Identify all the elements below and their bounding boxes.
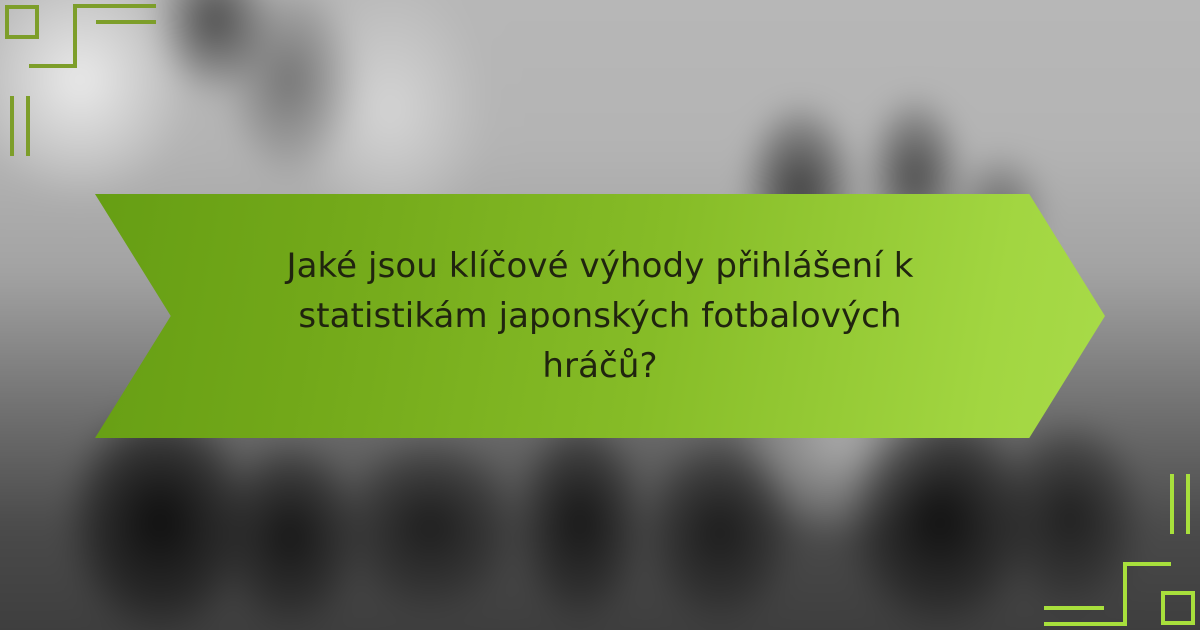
headline-text: Jaké jsou klíčové výhody přihlášení k st… <box>255 241 945 392</box>
headline-banner: Jaké jsou klíčové výhody přihlášení k st… <box>95 194 1105 438</box>
share-card: Jaké jsou klíčové výhody přihlášení k st… <box>0 0 1200 630</box>
